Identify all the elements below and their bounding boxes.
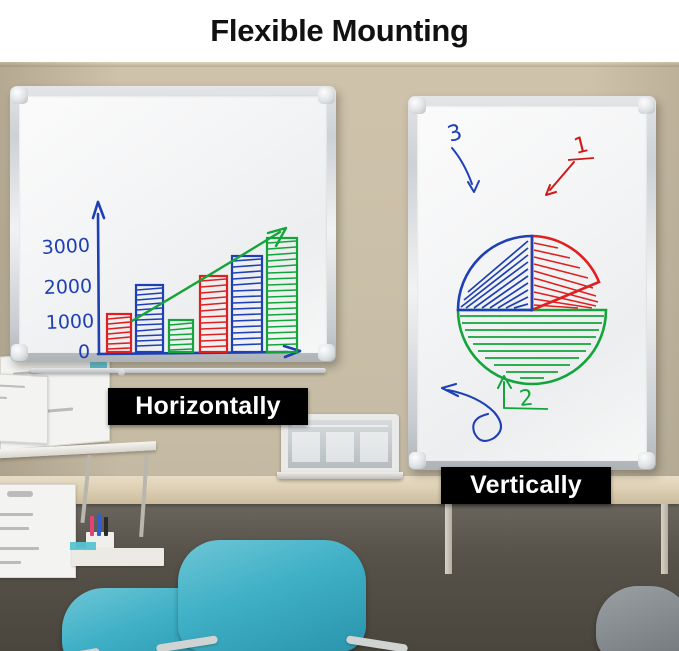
cart-mini-board-left <box>0 372 48 444</box>
cart-post <box>139 455 149 537</box>
caption-vertically: Vertically <box>441 467 611 504</box>
header-banner: Flexible Mounting <box>0 0 679 62</box>
svg-text:3000: 3000 <box>41 234 90 259</box>
laptop-screen <box>288 420 392 468</box>
svg-text:1: 1 <box>571 132 591 160</box>
svg-text:2000: 2000 <box>43 275 92 299</box>
svg-text:0: 0 <box>78 341 90 362</box>
chair-arm <box>346 635 408 651</box>
desk-leg <box>661 504 668 574</box>
chair-center <box>178 540 418 651</box>
pen-tray-stub <box>118 369 125 376</box>
caption-horizontally: Horizontally <box>108 388 308 425</box>
chair-backrest <box>596 586 679 651</box>
photo-scene: 3000 2000 1000 0 <box>0 62 679 651</box>
cart-bin <box>72 548 164 566</box>
caption-horizontally-label: Horizontally <box>135 392 280 421</box>
pie-chart-drawing: 1 3 2 <box>408 96 656 470</box>
laptop-base <box>277 472 403 479</box>
svg-text:2024: 2024 <box>210 359 266 362</box>
horizontal-whiteboard[interactable]: 3000 2000 1000 0 <box>10 86 336 362</box>
cart-post <box>80 455 91 523</box>
svg-text:1000: 1000 <box>45 310 94 334</box>
desk-leg <box>445 504 452 574</box>
bar-chart-drawing: 3000 2000 1000 0 <box>10 86 336 362</box>
sticky-note <box>70 542 96 550</box>
pen-tray <box>30 368 326 373</box>
chair-backrest <box>178 540 366 651</box>
whiteboard-cart <box>0 350 194 580</box>
vertical-whiteboard[interactable]: 1 3 2 <box>408 96 656 470</box>
caption-vertically-label: Vertically <box>470 471 582 500</box>
cart-mini-board-bottom <box>0 484 76 578</box>
svg-text:3: 3 <box>445 120 465 148</box>
chair-right <box>596 582 679 651</box>
page-title: Flexible Mounting <box>210 13 468 49</box>
svg-text:2023: 2023 <box>116 360 173 362</box>
product-image: Flexible Mounting <box>0 0 679 651</box>
